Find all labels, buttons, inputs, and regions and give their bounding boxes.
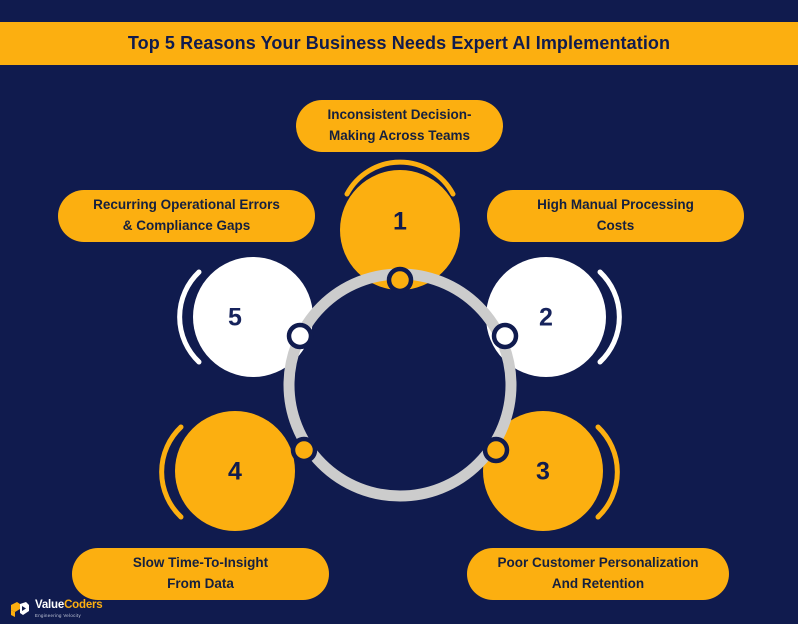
node-label-2-line-1: High Manual Processing xyxy=(537,197,694,212)
node-circle-4[interactable] xyxy=(175,411,295,531)
ring-marker-5 xyxy=(289,325,311,347)
ring-marker-1 xyxy=(389,269,411,291)
cycle-diagram xyxy=(0,0,798,624)
node-label-3-line-1: Poor Customer Personalization xyxy=(497,555,698,570)
node-label-4[interactable]: Slow Time-To-Insight From Data xyxy=(72,548,329,600)
logo-name: ValueCoders xyxy=(35,600,102,612)
node-label-1-line-1: Inconsistent Decision- xyxy=(327,107,471,122)
node-label-5-line-2: & Compliance Gaps xyxy=(123,218,251,233)
node-label-4-line-2: From Data xyxy=(167,576,234,591)
ring-marker-4 xyxy=(293,439,315,461)
logo-name-primary: Value xyxy=(35,599,64,611)
node-label-5[interactable]: Recurring Operational Errors & Complianc… xyxy=(58,190,315,242)
node-label-2-line-2: Costs xyxy=(597,218,635,233)
node-label-1-line-2: Making Across Teams xyxy=(329,128,470,143)
logo-name-secondary: Coders xyxy=(64,599,102,611)
ring-marker-2 xyxy=(494,325,516,347)
node-label-5-line-1: Recurring Operational Errors xyxy=(93,197,280,212)
logo-wordmark: ValueCoders Engineering Velocity xyxy=(35,600,102,618)
ring-marker-3 xyxy=(485,439,507,461)
logo-tagline: Engineering Velocity xyxy=(35,614,102,618)
node-label-1[interactable]: Inconsistent Decision- Making Across Tea… xyxy=(296,100,503,152)
center-ring xyxy=(289,274,511,496)
node-label-3[interactable]: Poor Customer Personalization And Retent… xyxy=(467,548,729,600)
logo-mark-icon xyxy=(10,601,30,618)
infographic-canvas: Top 5 Reasons Your Business Needs Expert… xyxy=(0,0,798,624)
valuecoders-logo[interactable]: ValueCoders Engineering Velocity xyxy=(10,600,102,618)
node-label-4-line-1: Slow Time-To-Insight xyxy=(133,555,268,570)
node-label-3-line-2: And Retention xyxy=(552,576,644,591)
node-label-2[interactable]: High Manual Processing Costs xyxy=(487,190,744,242)
